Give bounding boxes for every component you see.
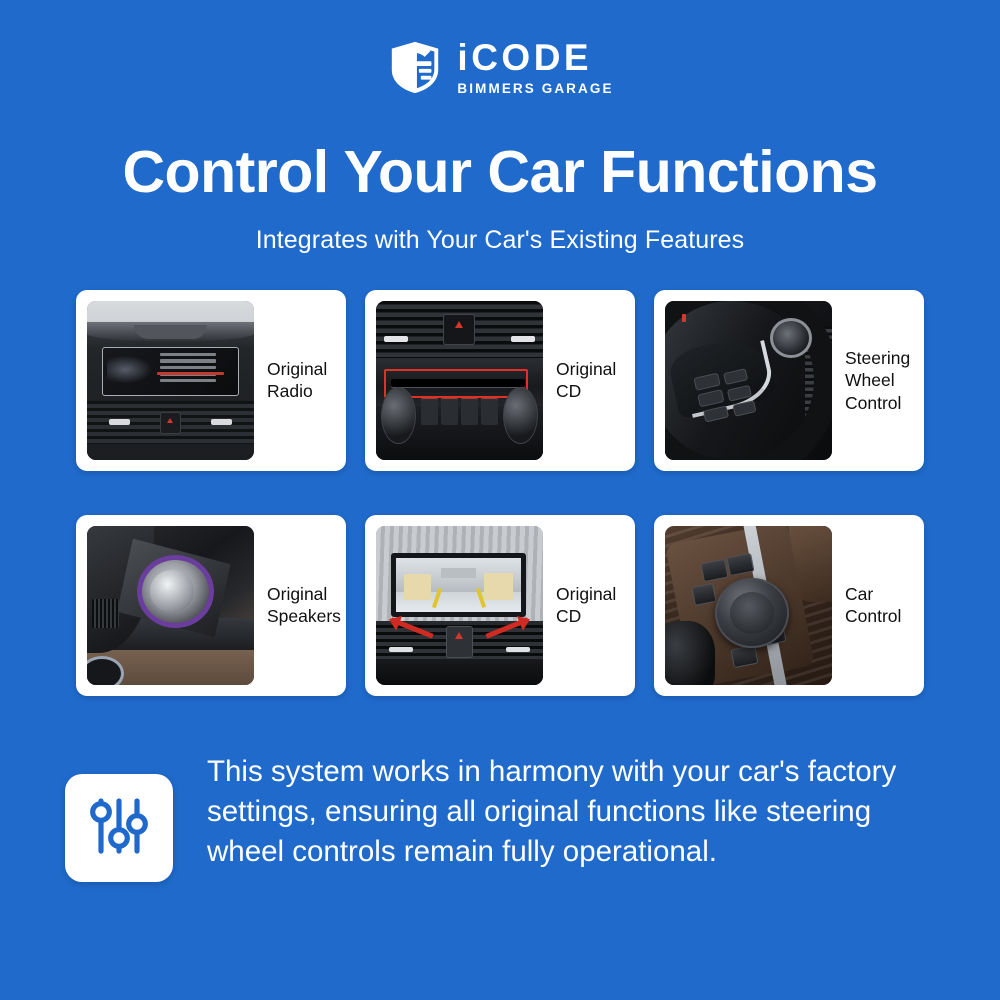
- feature-label: Car Control: [832, 583, 913, 628]
- page-title: Control Your Car Functions: [0, 142, 1000, 204]
- feature-label: Original Radio: [254, 358, 335, 403]
- feature-card-original-radio[interactable]: Original Radio: [76, 290, 346, 471]
- feature-card-original-cd[interactable]: Original CD: [365, 290, 635, 471]
- feature-card-original-cd-camera[interactable]: Original CD: [365, 515, 635, 696]
- feature-label: Steering Wheel Control: [832, 347, 914, 414]
- feature-card-steering-wheel-control[interactable]: Steering Wheel Control: [654, 290, 924, 471]
- feature-card-original-speakers[interactable]: Original Speakers: [76, 515, 346, 696]
- icode-shield-g-logo-icon: [386, 38, 444, 96]
- feature-image-car-control: [665, 526, 832, 685]
- brand-name: iCODE: [457, 39, 613, 76]
- sliders-equalizer-icon: [84, 791, 154, 866]
- logo-wordmark: iCODE BIMMERS GARAGE: [457, 39, 613, 96]
- footer-banner: This system works in harmony with your c…: [0, 748, 1000, 882]
- feature-label: Original CD: [543, 583, 624, 628]
- brand-tagline: BIMMERS GARAGE: [457, 82, 613, 96]
- feature-label: Original Speakers: [254, 583, 345, 628]
- footer-paragraph: This system works in harmony with your c…: [207, 748, 907, 872]
- hero-section: Control Your Car Functions Integrates wi…: [0, 142, 1000, 255]
- feature-image-steering-wheel: [665, 301, 832, 460]
- brand-header: iCODE BIMMERS GARAGE: [0, 0, 1000, 118]
- feature-grid: Original Radio Original CD: [76, 290, 924, 696]
- feature-card-car-control[interactable]: Car Control: [654, 515, 924, 696]
- settings-tile: [65, 774, 173, 882]
- feature-image-original-speakers: [87, 526, 254, 685]
- feature-label: Original CD: [543, 358, 624, 403]
- logo-lockup[interactable]: iCODE BIMMERS GARAGE: [386, 38, 613, 96]
- feature-image-original-cd: [376, 301, 543, 460]
- page-subtitle: Integrates with Your Car's Existing Feat…: [0, 226, 1000, 255]
- feature-image-original-radio: [87, 301, 254, 460]
- feature-image-reversing-camera: [376, 526, 543, 685]
